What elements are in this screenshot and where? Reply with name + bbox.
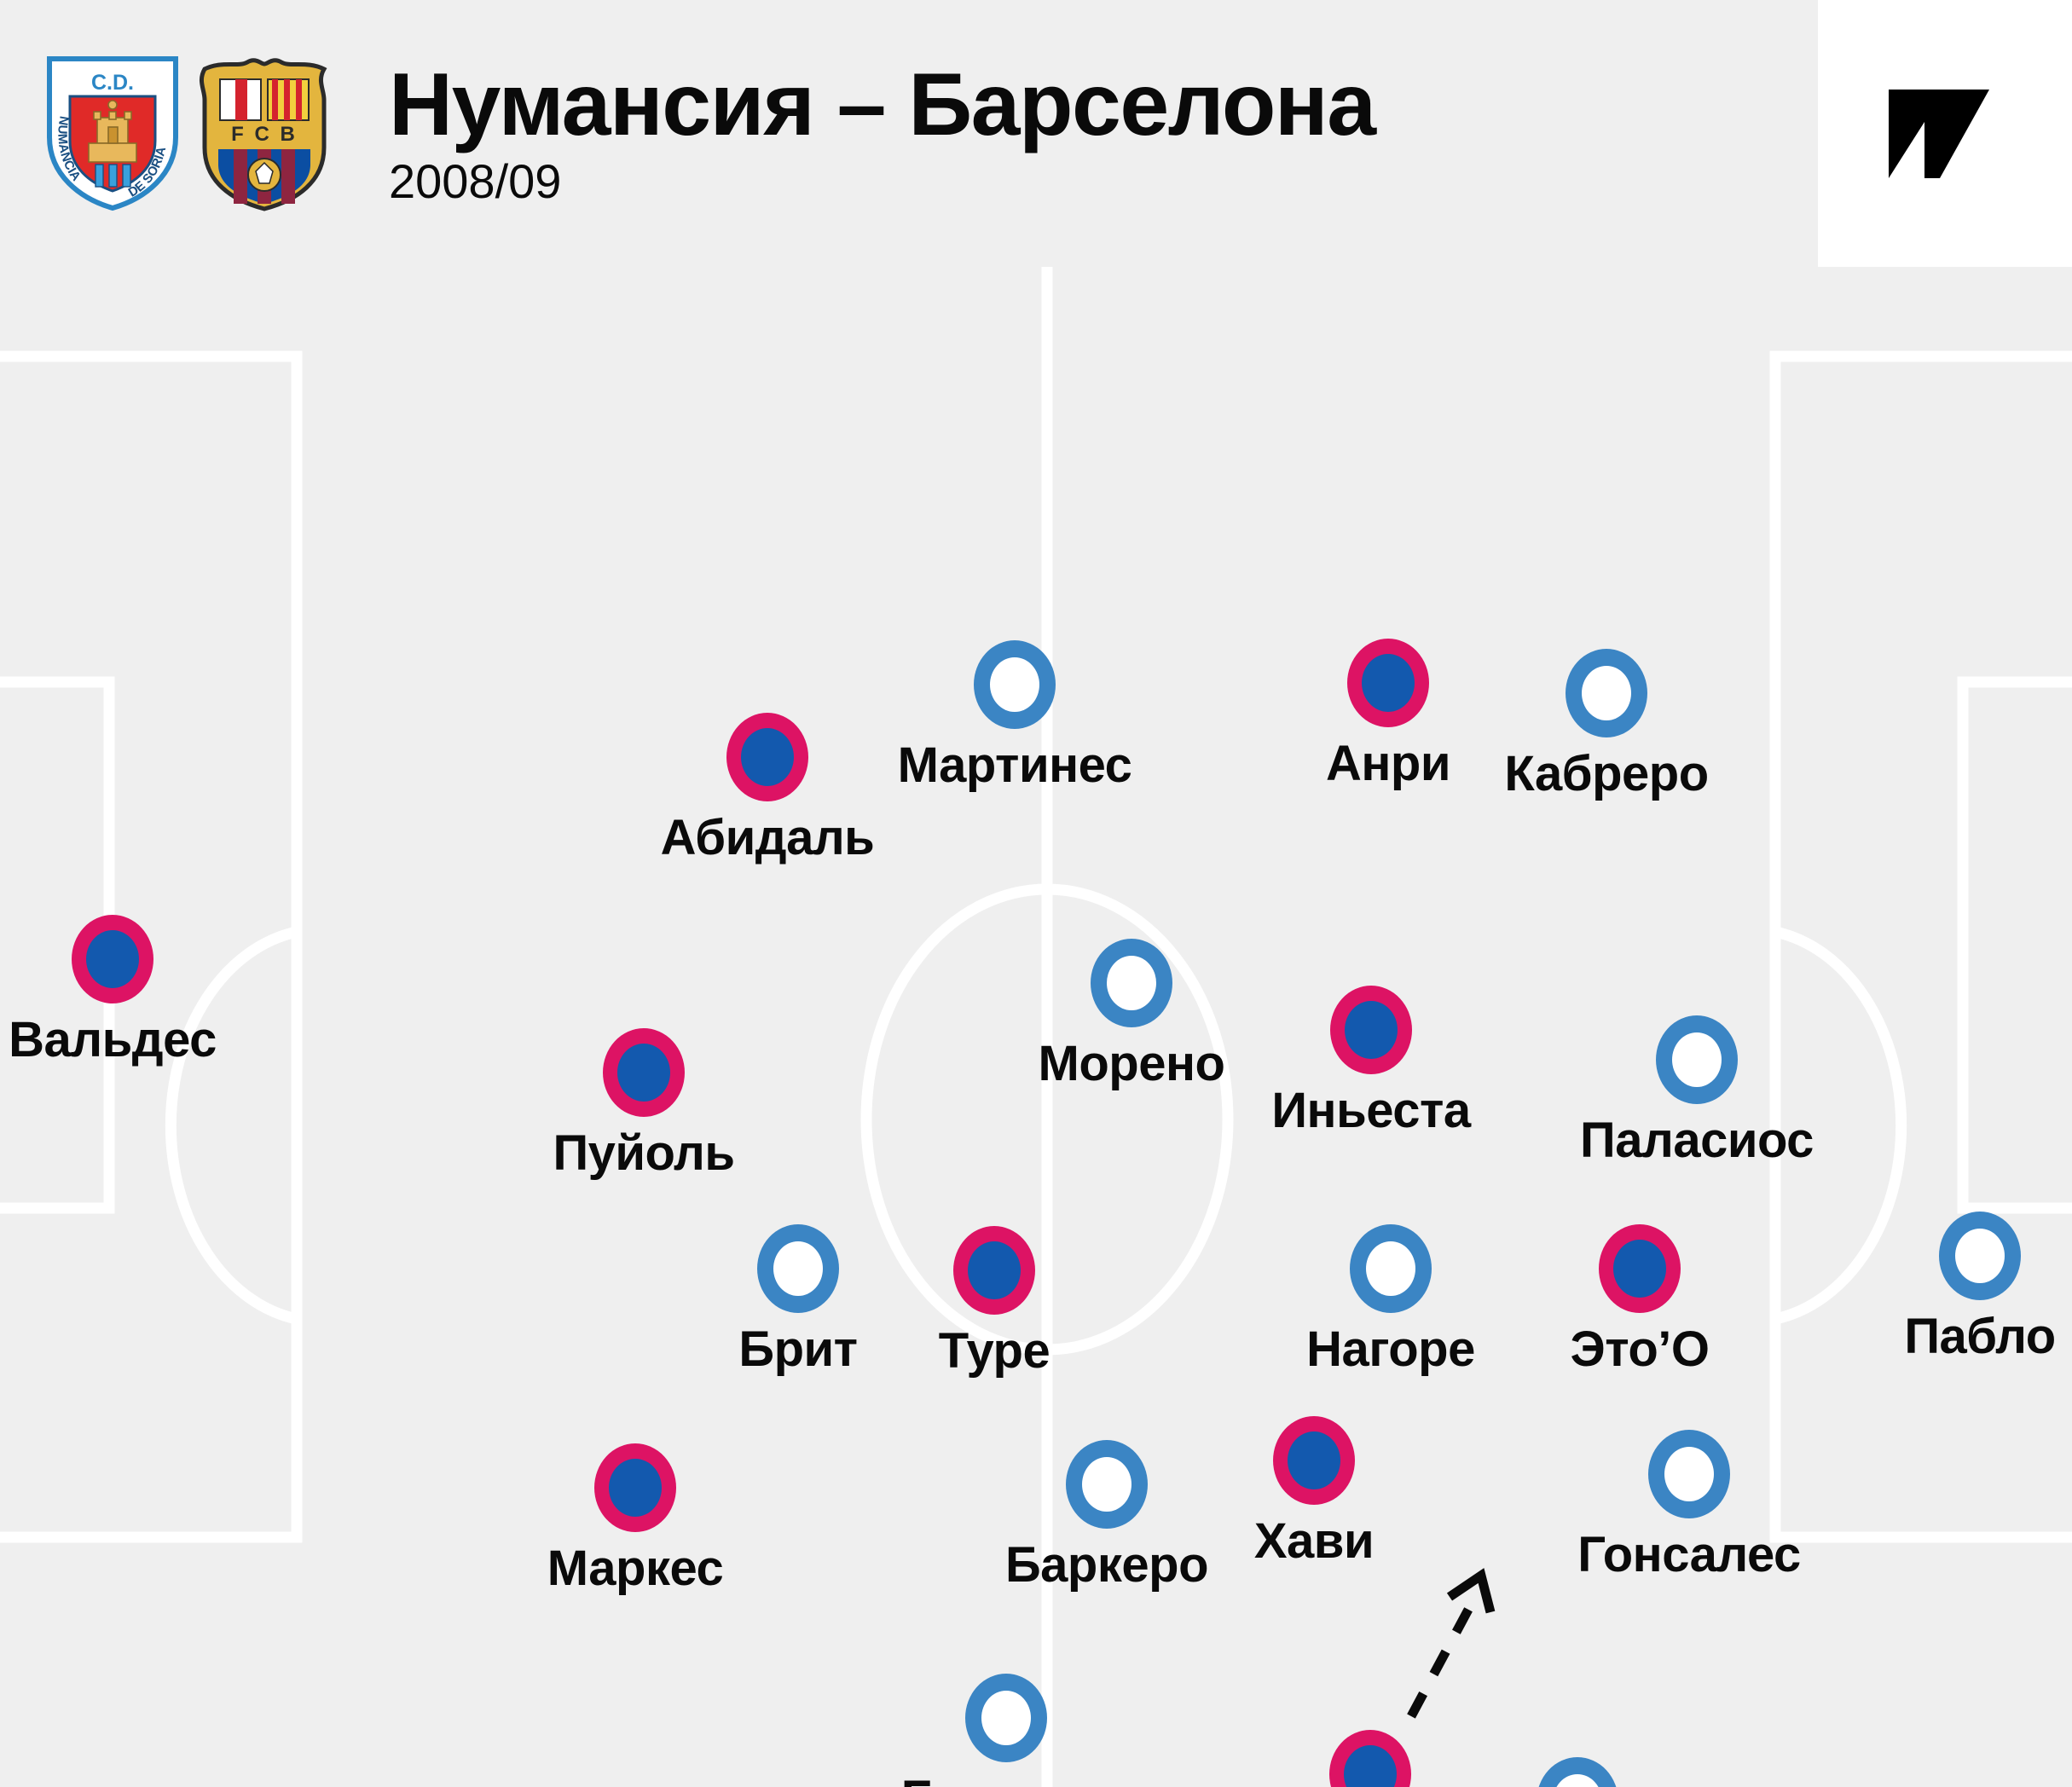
- svg-text:C.D.: C.D.: [91, 71, 134, 95]
- barcelona-crest: F C B: [196, 55, 333, 211]
- brand-logo-panel: [1818, 0, 2072, 267]
- player-name: Бельвис: [901, 1774, 1112, 1787]
- player-name: Туре: [939, 1327, 1050, 1376]
- player-name: Баркеро: [1005, 1541, 1208, 1590]
- player-name: Морено: [1039, 1039, 1225, 1089]
- player-name: Абидаль: [661, 813, 875, 863]
- player-puyol[interactable]: Пуйоль: [603, 1028, 685, 1117]
- marker-barcelona: [603, 1028, 685, 1117]
- svg-text:F C B: F C B: [231, 123, 298, 146]
- player-martinez[interactable]: Мартинес: [974, 640, 1056, 729]
- header-text: Нумансия – Барселона 2008/09: [389, 60, 1375, 208]
- marker-barcelona: [72, 915, 153, 1003]
- marker-barcelona: [953, 1226, 1035, 1315]
- left-penalty-arc: [171, 932, 297, 1319]
- marker-numancia: [1091, 939, 1172, 1027]
- marker-numancia: [1537, 1757, 1618, 1787]
- marker-numancia: [757, 1224, 839, 1313]
- player-valdes[interactable]: Вальдес: [72, 915, 153, 1003]
- player-toure[interactable]: Туре: [953, 1226, 1035, 1315]
- marker-numancia: [974, 640, 1056, 729]
- marker-numancia: [1566, 649, 1647, 737]
- player-name: Это’О: [1570, 1325, 1709, 1374]
- player-name: Паласиос: [1580, 1116, 1814, 1165]
- marker-numancia: [1066, 1440, 1148, 1529]
- marker-barcelona: [594, 1443, 676, 1532]
- right-goal-box: [1963, 682, 2072, 1208]
- player-pablo[interactable]: Пабло: [1939, 1212, 2021, 1300]
- marker-numancia: [1939, 1212, 2021, 1300]
- player-name: Мартинес: [898, 741, 1132, 790]
- marker-barcelona: [1329, 1730, 1411, 1787]
- player-name: Гонсалес: [1577, 1530, 1801, 1580]
- player-iniesta[interactable]: Иньеста: [1330, 986, 1412, 1074]
- marker-barcelona: [726, 713, 808, 801]
- player-name: Анри: [1326, 739, 1450, 789]
- player-henry[interactable]: Анри: [1347, 639, 1429, 727]
- marker-numancia: [1350, 1224, 1432, 1313]
- marker-barcelona: [1347, 639, 1429, 727]
- player-abidal[interactable]: Абидаль: [726, 713, 808, 801]
- lineup-infographic: C.D.: [0, 0, 2072, 1787]
- w-mark-logo: [1887, 86, 2003, 182]
- header-bar: C.D.: [0, 0, 1818, 267]
- player-cabrero[interactable]: Кабреро: [1566, 649, 1647, 737]
- player-sisma[interactable]: Сисма: [1537, 1757, 1618, 1787]
- marker-numancia: [1656, 1015, 1738, 1104]
- player-xavi[interactable]: Хави: [1273, 1416, 1355, 1505]
- player-name: Иньеста: [1271, 1086, 1470, 1136]
- player-name: Маркес: [547, 1544, 724, 1593]
- player-name: Брит: [738, 1325, 857, 1374]
- player-gonzalez[interactable]: Гонсалес: [1648, 1430, 1730, 1518]
- player-name: Пуйоль: [553, 1129, 734, 1178]
- player-brit[interactable]: Брит: [757, 1224, 839, 1313]
- player-name: Пабло: [1904, 1312, 2055, 1362]
- player-belvis[interactable]: Бельвис: [965, 1674, 1047, 1762]
- numancia-crest: C.D.: [44, 55, 181, 211]
- marker-barcelona: [1330, 986, 1412, 1074]
- season-label: 2008/09: [389, 155, 1375, 208]
- player-barkero[interactable]: Баркеро: [1066, 1440, 1148, 1529]
- page-title: Нумансия – Барселона: [389, 60, 1375, 150]
- club-crests: C.D.: [44, 55, 333, 211]
- player-nagore[interactable]: Нагоре: [1350, 1224, 1432, 1313]
- player-name: Вальдес: [9, 1015, 217, 1065]
- marker-numancia: [965, 1674, 1047, 1762]
- player-name: Нагоре: [1306, 1325, 1475, 1374]
- player-messi[interactable]: Месси: [1329, 1730, 1411, 1787]
- marker-barcelona: [1273, 1416, 1355, 1505]
- marker-barcelona: [1599, 1224, 1681, 1313]
- player-name: Хави: [1254, 1517, 1374, 1566]
- player-moreno[interactable]: Морено: [1091, 939, 1172, 1027]
- marker-numancia: [1648, 1430, 1730, 1518]
- player-marquez[interactable]: Маркес: [594, 1443, 676, 1532]
- player-palacios[interactable]: Паласиос: [1656, 1015, 1738, 1104]
- player-name: Кабреро: [1504, 749, 1708, 799]
- player-etoo[interactable]: Это’О: [1599, 1224, 1681, 1313]
- pitch: Вальдес Абидаль Мартинес Анри Кабреро Пу…: [0, 267, 2072, 1787]
